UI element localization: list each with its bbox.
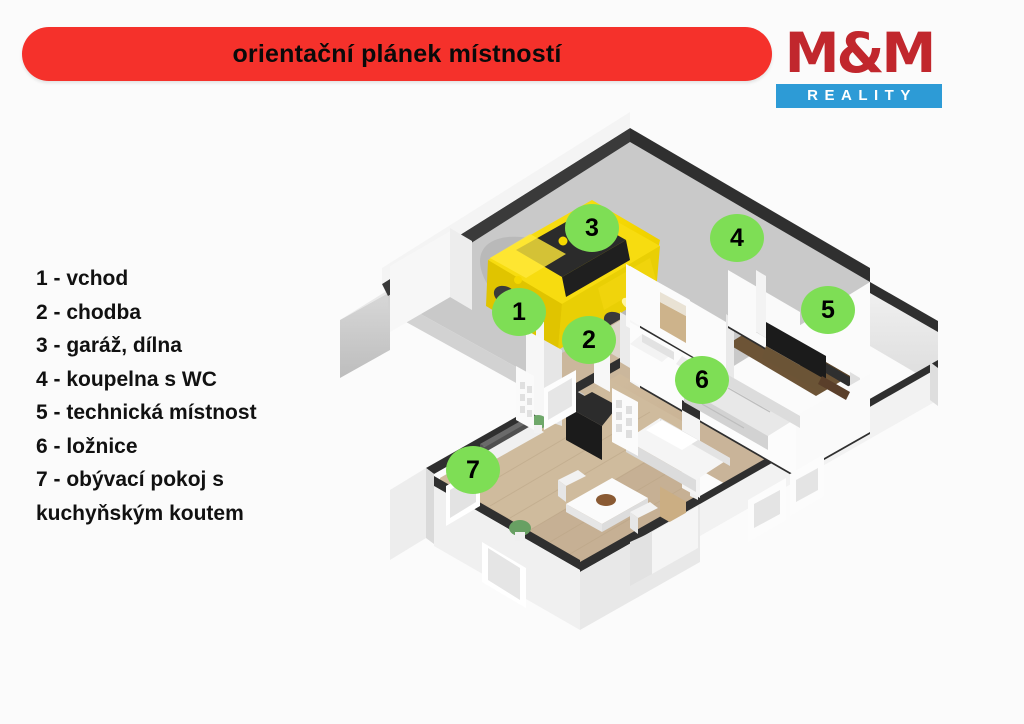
room-marker-6[interactable]: 6 bbox=[675, 356, 729, 404]
page-title: orientační plánek místností bbox=[22, 27, 772, 81]
room-legend: 1 - vchod 2 - chodba 3 - garáž, dílna 4 … bbox=[36, 262, 336, 530]
room-marker-3[interactable]: 3 bbox=[565, 204, 619, 252]
legend-item: 1 - vchod bbox=[36, 262, 336, 296]
room-marker-4[interactable]: 4 bbox=[710, 214, 764, 262]
legend-item: 6 - ložnice bbox=[36, 430, 336, 464]
room-marker-1[interactable]: 1 bbox=[492, 288, 546, 336]
logo-mark-text: M&M bbox=[776, 24, 942, 82]
floorplan-page: orientační plánek místností M&M REALITY … bbox=[0, 0, 1024, 724]
legend-item: 2 - chodba bbox=[36, 296, 336, 330]
floorplan-3d-render bbox=[330, 100, 970, 700]
mm-reality-logo: M&M REALITY bbox=[776, 24, 942, 108]
legend-item: 5 - technická místnost bbox=[36, 396, 336, 430]
room-marker-2[interactable]: 2 bbox=[562, 316, 616, 364]
legend-item: 7 - obývací pokoj s bbox=[36, 463, 336, 497]
room-marker-7[interactable]: 7 bbox=[446, 446, 500, 494]
legend-item: 4 - koupelna s WC bbox=[36, 363, 336, 397]
legend-item: 3 - garáž, dílna bbox=[36, 329, 336, 363]
room-marker-5[interactable]: 5 bbox=[801, 286, 855, 334]
legend-item-continuation: kuchyňským koutem bbox=[36, 497, 336, 531]
